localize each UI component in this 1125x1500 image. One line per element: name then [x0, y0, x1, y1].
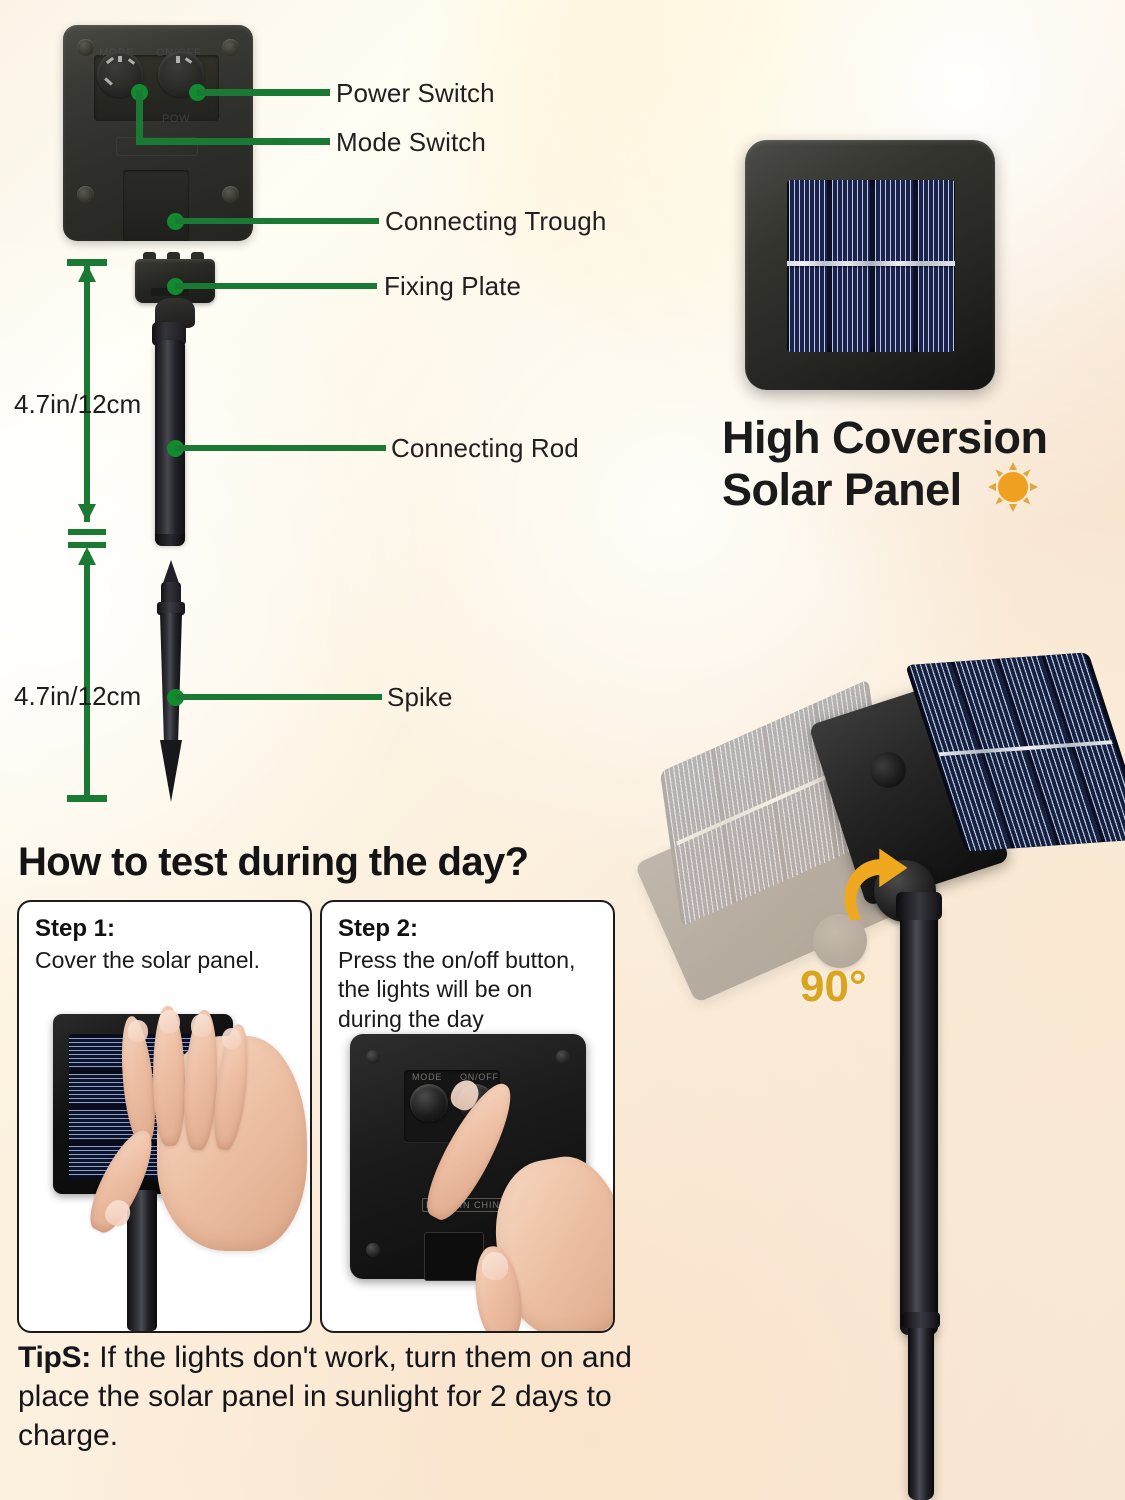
step-2-box: Step 2: Press the on/off button, the lig…: [320, 900, 615, 1333]
knob-tick-icon: [106, 57, 114, 64]
knob-tick-icon: [176, 56, 180, 63]
callout-label-connecting-rod: Connecting Rod: [391, 433, 579, 464]
spike-tip-icon: [160, 740, 182, 802]
knob-tick-icon: [104, 77, 113, 85]
ground-spike: [152, 560, 190, 805]
dim-line-lower: [84, 552, 90, 801]
fingernail: [482, 1252, 508, 1280]
callout-label-mode-switch: Mode Switch: [336, 127, 486, 158]
solar-feature-heading-line1: High Coversion: [722, 412, 1048, 464]
dim-arrow-up-icon: [78, 264, 96, 282]
solar-cell-column: [832, 180, 870, 352]
step-1-illustration: [19, 998, 310, 1331]
sun-icon: [988, 462, 1038, 512]
callout-label-connecting-trough: Connecting Trough: [385, 206, 606, 237]
screw-icon: [366, 1243, 380, 1257]
spike-head: [161, 582, 181, 604]
dim-tick-bottom: [67, 795, 107, 802]
solar-feature-heading-line2: Solar Panel: [722, 464, 962, 516]
dimension-label-spike-length: 4.7in/12cm: [14, 681, 141, 712]
lamp-pole-lower: [908, 1320, 934, 1500]
dimension-label-rod-length: 4.7in/12cm: [14, 389, 141, 420]
callout-line-connecting-rod: [175, 445, 386, 451]
callout-line-spike: [175, 694, 382, 700]
solar-cell-column: [789, 180, 827, 352]
knob-tick-icon: [128, 58, 135, 65]
step-2-illustration: MODE ON/OFF POW MADE IN CHINA: [322, 1028, 613, 1331]
fingernail: [222, 1028, 241, 1049]
screw-icon: [222, 186, 239, 203]
screw-icon: [77, 186, 94, 203]
screw-icon: [222, 39, 239, 56]
dim-arrow-up-icon: [78, 547, 96, 565]
how-to-test-title: How to test during the day?: [18, 840, 528, 885]
callout-line-mode-switch-horz: [136, 138, 330, 145]
callout-line-fixing-plate: [175, 283, 377, 289]
step-1-body: Cover the solar panel.: [35, 946, 293, 975]
hand-covering-panel: [95, 1006, 310, 1266]
step-1-heading: Step 1:: [35, 915, 115, 943]
solar-cell-column: [875, 180, 913, 352]
step-1-box: Step 1: Cover the solar panel.: [17, 900, 312, 1333]
callout-label-spike: Spike: [387, 682, 453, 713]
fingernail: [128, 1020, 148, 1042]
lamp-pole: [900, 905, 938, 1335]
lamp-pole-collar: [902, 1312, 940, 1328]
infographic-page: MODE ON/OFF POW: [0, 0, 1125, 1500]
spike-shaft: [160, 613, 182, 743]
solar-busbar: [787, 261, 955, 266]
screw-icon: [556, 1050, 570, 1064]
callout-line-mode-switch-vert: [136, 90, 143, 145]
knob-tick-icon: [185, 57, 192, 63]
pointing-hand: [442, 1066, 615, 1331]
tips-block: TipS: If the lights don't work, turn the…: [18, 1338, 648, 1455]
screw-icon: [366, 1050, 380, 1064]
connecting-trough: [123, 170, 189, 241]
step-2-body: Press the on/off button, the lights will…: [338, 946, 592, 1034]
pow-marking-label: POW: [162, 113, 190, 125]
dim-break-mark-upper: [68, 529, 106, 535]
rod-bottom-cap: [155, 534, 185, 546]
callout-label-fixing-plate: Fixing Plate: [384, 271, 521, 302]
fingernail: [159, 1010, 180, 1033]
callout-label-power-switch: Power Switch: [336, 78, 495, 109]
dim-arrow-down-icon: [78, 504, 96, 522]
screw-icon: [77, 39, 94, 56]
tips-label: TipS:: [18, 1341, 91, 1374]
solar-cell-column: [918, 180, 954, 352]
fingernail: [191, 1014, 212, 1037]
solar-panel-frame: [745, 140, 995, 390]
solar-panel-cells: [787, 180, 955, 352]
tips-body: If the lights don't work, turn them on a…: [18, 1341, 632, 1452]
mode-marking-label: MODE: [412, 1072, 442, 1082]
callout-line-power-switch: [197, 89, 330, 96]
knob-tick-icon: [118, 56, 122, 62]
callout-line-connecting-trough: [175, 218, 379, 224]
lamp-pole-joint: [896, 892, 942, 920]
rotation-angle-label: 90°: [800, 962, 867, 1012]
solar-head-housing: MODE ON/OFF POW: [63, 25, 253, 241]
step-2-heading: Step 2:: [338, 915, 418, 943]
